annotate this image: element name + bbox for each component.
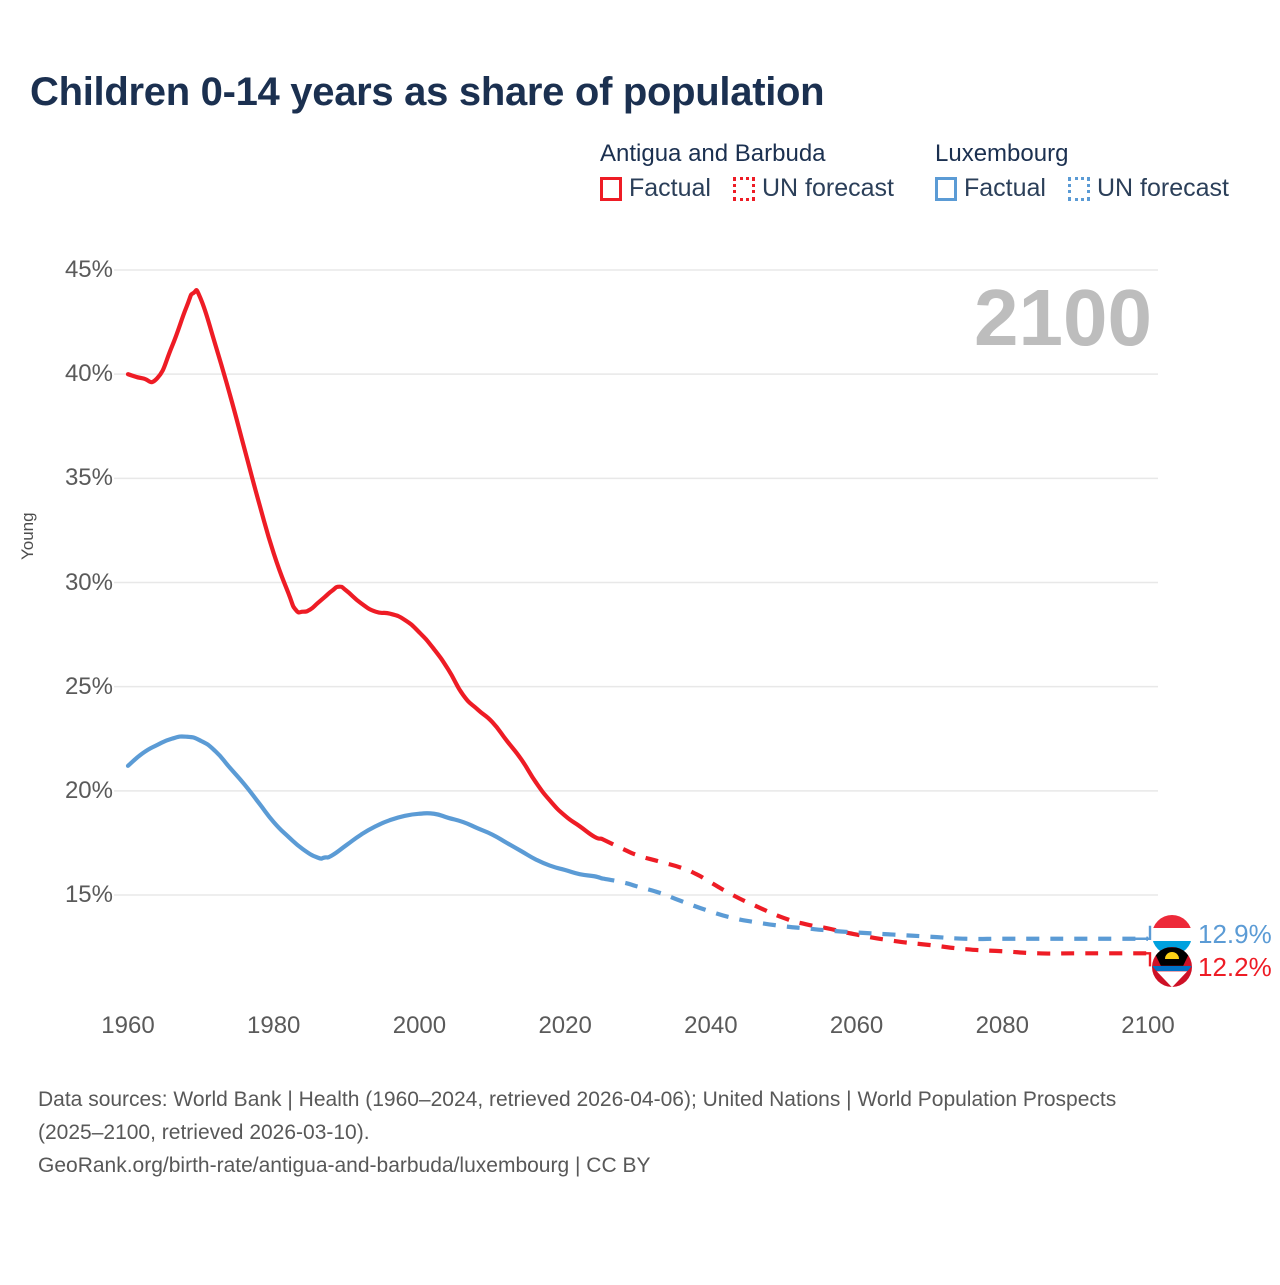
- x-axis-tick-label: 1960: [101, 1012, 154, 1040]
- antigua-and-barbuda-flag-icon: [1152, 947, 1192, 987]
- footer-data-sources: Data sources: World Bank | Health (1960–…: [38, 1083, 1168, 1149]
- y-axis-tick-label: 25%: [43, 673, 113, 701]
- end-label-antigua: 12.2%: [1152, 947, 1272, 987]
- series-line-factual-antigua: [128, 290, 602, 839]
- y-axis-tick-label: 15%: [43, 881, 113, 909]
- y-axis-tick-label: 40%: [43, 360, 113, 388]
- x-axis-tick-label: 1980: [247, 1012, 300, 1040]
- y-axis-tick-label: 20%: [43, 777, 113, 805]
- watermark-year: 2100: [974, 278, 1152, 358]
- y-axis-tick-label: 30%: [43, 569, 113, 597]
- end-label-value: 12.2%: [1198, 952, 1272, 983]
- y-axis-tick-label: 45%: [43, 256, 113, 284]
- series-line-factual-luxembourg: [128, 736, 602, 878]
- x-axis-tick-label: 2080: [976, 1012, 1029, 1040]
- series-line-forecast-luxembourg: [602, 878, 1148, 939]
- series-line-forecast-antigua: [602, 839, 1148, 954]
- x-axis-tick-label: 2060: [830, 1012, 883, 1040]
- footer-attribution: GeoRank.org/birth-rate/antigua-and-barbu…: [38, 1149, 1168, 1182]
- x-axis-tick-label: 2020: [538, 1012, 591, 1040]
- footer-credits: Data sources: World Bank | Health (1960–…: [38, 1083, 1168, 1182]
- x-axis-tick-label: 2100: [1121, 1012, 1174, 1040]
- y-axis-tick-label: 35%: [43, 464, 113, 492]
- x-axis-tick-label: 2000: [393, 1012, 446, 1040]
- x-axis-tick-label: 2040: [684, 1012, 737, 1040]
- chart-page: Children 0-14 years as share of populati…: [0, 0, 1280, 1280]
- end-label-value: 12.9%: [1198, 919, 1272, 950]
